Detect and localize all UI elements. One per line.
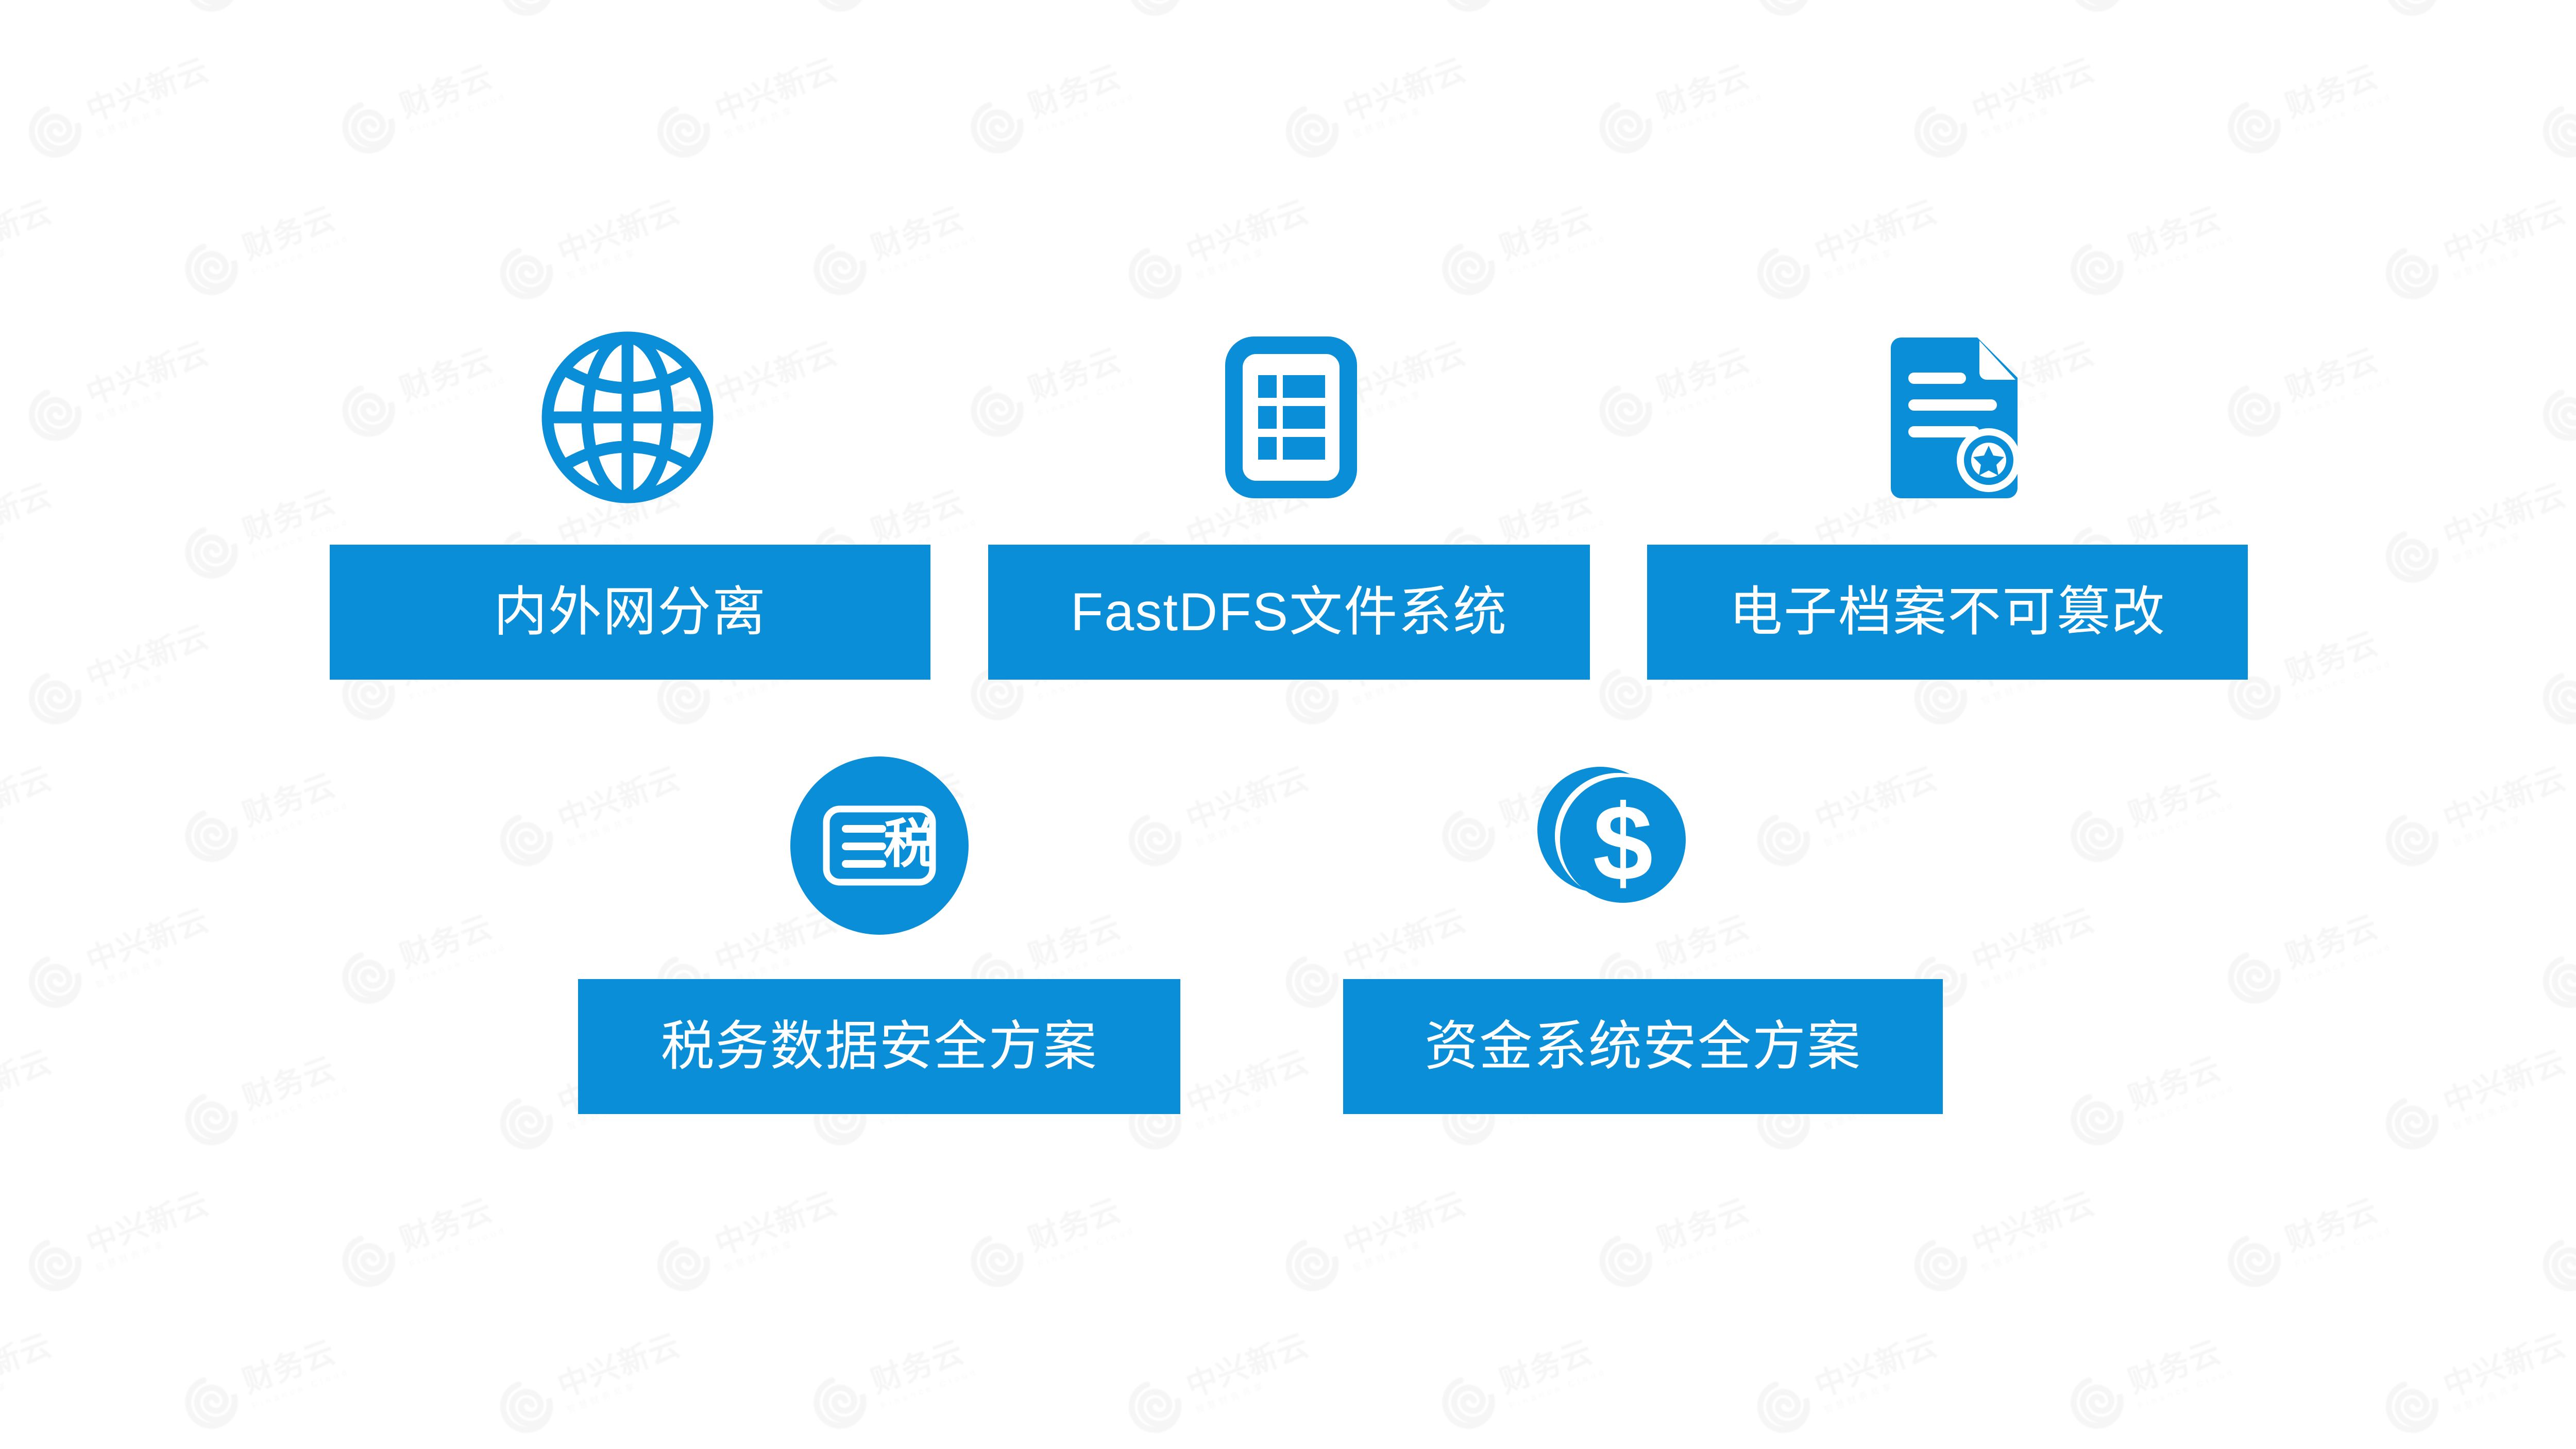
table-grid-icon — [1222, 327, 1360, 508]
feature-label-text: 资金系统安全方案 — [1425, 1020, 1861, 1073]
slide-content: 内外网分离 FastDFS文件系统 电子档 — [0, 0, 2576, 1449]
dollar-icon-glyph: $ — [1593, 782, 1653, 903]
feature-label-fund-system-security[interactable]: 资金系统安全方案 — [1343, 979, 1943, 1114]
feature-label-fastdfs-file-system[interactable]: FastDFS文件系统 — [988, 545, 1590, 680]
feature-label-text: 税务数据安全方案 — [660, 1020, 1097, 1073]
globe-icon — [541, 327, 714, 508]
feature-label-text: 电子档案不可篡改 — [1729, 585, 2166, 639]
feature-label-tax-data-security[interactable]: 税务数据安全方案 — [578, 979, 1180, 1114]
feature-label-immutable-e-archive[interactable]: 电子档案不可篡改 — [1647, 545, 2248, 680]
feature-label-internal-external-network[interactable]: 内外网分离 — [330, 545, 930, 680]
feature-label-text: FastDFS文件系统 — [1071, 585, 1507, 639]
tax-icon-glyph: 税 — [884, 815, 936, 873]
certified-document-icon — [1879, 327, 2034, 508]
tax-card-icon: 税 — [790, 756, 969, 935]
feature-label-text: 内外网分离 — [494, 585, 767, 639]
dollar-coins-icon: $ — [1522, 752, 1706, 933]
